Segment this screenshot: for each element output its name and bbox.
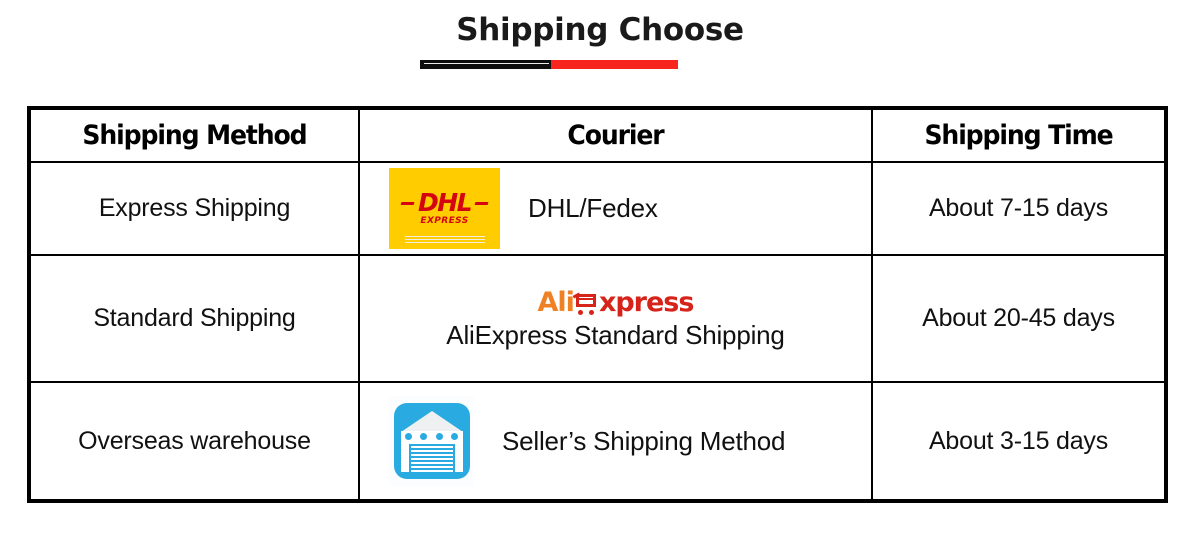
title-underline-bar: [420, 60, 678, 69]
courier-label: DHL/Fedex: [528, 193, 658, 224]
shipping-method-label: Overseas warehouse: [78, 427, 311, 455]
shipping-method-label: Express Shipping: [99, 194, 290, 222]
courier-content: DHL EXPRESS DHL/Fedex: [360, 168, 871, 249]
cell-shipping-time: About 20-45 days: [872, 255, 1166, 382]
page-title: Shipping Choose: [0, 10, 1200, 50]
courier-content: Seller’s Shipping Method: [360, 396, 871, 486]
shipping-time-label: About 7-15 days: [929, 194, 1108, 222]
warehouse-icon-tile: [394, 403, 470, 479]
cell-courier: DHL EXPRESS DHL/Fedex: [359, 162, 872, 255]
cell-courier: Seller’s Shipping Method: [359, 382, 872, 501]
header-courier: Courier: [377, 108, 854, 162]
table-row: Express Shipping DHL EXPRESS DHL/Fedex: [29, 162, 1166, 255]
cell-courier: Ali xpress AliExpress Standard Shipping: [359, 255, 872, 382]
cell-shipping-time: About 7-15 days: [872, 162, 1166, 255]
shipping-options-table: Shipping Method Courier Shipping Time Ex…: [27, 106, 1168, 503]
table-header-row: Shipping Method Courier Shipping Time: [29, 108, 1166, 162]
cell-shipping-method: Express Shipping: [29, 162, 359, 255]
aliexpress-logo-ali: Ali: [538, 287, 574, 318]
header-shipping-time: Shipping Time: [882, 108, 1155, 162]
table-row: Overseas warehouse Seller’s Shipping Met…: [29, 382, 1166, 501]
dhl-stripes: [405, 236, 485, 245]
cell-shipping-method: Standard Shipping: [29, 255, 359, 382]
courier-label: Seller’s Shipping Method: [502, 426, 785, 457]
shopping-cart-icon: [573, 290, 599, 317]
cell-shipping-method: Overseas warehouse: [29, 382, 359, 501]
shipping-method-label: Standard Shipping: [93, 304, 295, 332]
aliexpress-logo: Ali xpress: [538, 287, 694, 318]
table-row: Standard Shipping Ali xpress: [29, 255, 1166, 382]
header-shipping-method: Shipping Method: [41, 108, 348, 162]
title-underline-red-segment: [551, 60, 678, 69]
page-title-block: Shipping Choose: [0, 10, 1200, 50]
dhl-mark: DHL EXPRESS: [399, 192, 491, 226]
shipping-time-label: About 20-45 days: [922, 304, 1115, 332]
shipping-time-label: About 3-15 days: [929, 427, 1108, 455]
title-underline-dark-segment: [420, 60, 551, 69]
dhl-express-label: EXPRESS: [399, 216, 491, 226]
aliexpress-logo-xpress: xpress: [599, 287, 694, 318]
courier-content: Ali xpress AliExpress Standard Shipping: [360, 287, 871, 351]
warehouse-icon: [389, 396, 474, 486]
dhl-logo: DHL EXPRESS: [389, 168, 500, 249]
courier-label: AliExpress Standard Shipping: [446, 320, 784, 351]
cell-shipping-time: About 3-15 days: [872, 382, 1166, 501]
dhl-wordmark: DHL: [418, 192, 471, 214]
